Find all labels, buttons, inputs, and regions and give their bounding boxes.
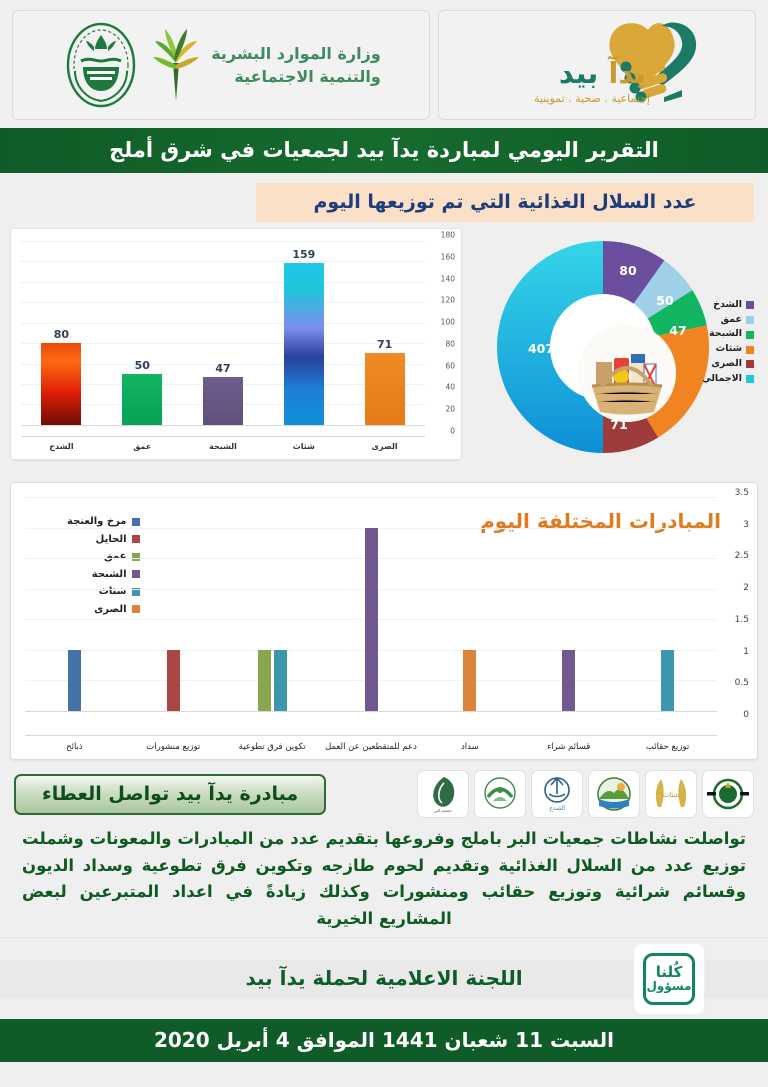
bar-group-tawzee-haqaib: [618, 497, 717, 711]
baskets-section-title: عدد السلال الغذائية التي تم توزيعها اليو…: [256, 183, 754, 222]
food-basket-icon: [578, 324, 676, 422]
bar-rect: [167, 650, 180, 711]
slice-value-shadkh: 80: [619, 263, 637, 278]
y-tick: 1.5: [735, 615, 749, 625]
brand-name-part2: بيد: [559, 56, 598, 90]
charity-logo-1-icon: [702, 770, 754, 818]
y-tick: 2.5: [735, 551, 749, 561]
bar-value: 71: [377, 338, 392, 351]
bar-group-sara: 71: [348, 241, 421, 425]
x-tick-label: ذبائح: [25, 742, 124, 753]
y-tick: 2: [743, 583, 749, 593]
charity-logo-shathath-icon: شثاث: [645, 770, 697, 818]
bar-group-shathath: 159: [267, 241, 340, 425]
legend-label: عمق: [721, 313, 742, 328]
x-tick-label: سداد: [420, 742, 519, 753]
bar-group-takween-firaq: [223, 497, 322, 711]
committee-bar: اللجنة الاعلامية لحملة يدآ بيد كُلنا مسؤ…: [0, 937, 768, 1019]
charity-logo-6-icon: جمعية البر: [417, 770, 469, 818]
report-paragraph: تواصلت نشاطات جمعيات البر باملج وفروعها …: [0, 820, 768, 937]
ministry-name: وزارة الموارد البشرية والتنمية الاجتماعي…: [211, 42, 381, 88]
charity-logo-3-icon: [588, 770, 640, 818]
committee-text: اللجنة الاعلامية لحملة يدآ بيد: [245, 966, 522, 990]
bar-rect: [562, 650, 575, 711]
initiatives-x-axis: توزيع حقائب قسائم شراء سداد دعم للمنقطعي…: [25, 735, 717, 753]
charity-logo-shadkh-icon: الشدخ: [531, 770, 583, 818]
slice-value-omq: 50: [656, 293, 674, 308]
bar-group-shadkh: 80: [25, 241, 98, 425]
brand-tagline: إجتماعية . صحية . تموينية: [534, 92, 650, 105]
ministry-block: وزارة الموارد البشرية والتنمية الاجتماعي…: [47, 21, 395, 109]
y-tick: 3.5: [735, 488, 749, 498]
baskets-section: عدد السلال الغذائية التي تم توزيعها اليو…: [0, 173, 768, 476]
bar-rect: [274, 650, 287, 711]
kullona-masoul-logo: كُلنا مسؤول: [634, 944, 704, 1014]
x-tick-label: شثاث: [267, 442, 340, 451]
legend-swatch: [746, 346, 754, 354]
bar-group-shabha: 47: [187, 241, 260, 425]
bar-rect: [203, 377, 243, 425]
y-tick: 0: [450, 427, 455, 436]
initiatives-section: المبادرات المختلفة اليوم مرخ والعنجة الح…: [0, 476, 768, 764]
x-tick-label: عمق: [106, 442, 179, 451]
bar-rect: [41, 343, 81, 425]
header-logo-strip: يدآ بيد إجتماعية . صحية . تموينية وزارة …: [0, 0, 768, 128]
y-tick: 160: [441, 252, 455, 261]
baskets-bar-chart: 71 159 47 50: [10, 228, 462, 460]
page-title: التقرير اليومي لمباردة يدآ بيد لجمعيات ف…: [0, 128, 768, 173]
slice-value-total: 407: [528, 341, 554, 356]
svg-text:جمعية البر: جمعية البر: [433, 808, 452, 813]
ministry-logo-card: وزارة الموارد البشرية والتنمية الاجتماعي…: [12, 10, 430, 120]
y-tick: 80: [445, 339, 455, 348]
bar-value: 159: [292, 248, 315, 261]
y-tick: 1: [743, 647, 749, 657]
donut-chart: الشدخ عمق الشبحة شثاث الصرى الاجمالي: [466, 228, 758, 468]
association-logos: شثاث الشدخ جمعية البر: [417, 770, 754, 818]
initiative-banner: مبادرة يدآ بيد تواصل العطاء: [14, 774, 326, 815]
bar-group-daam-munqatieen: [322, 497, 421, 711]
kullona-line2: مسؤول: [646, 980, 691, 993]
slice-value-shabha: 47: [669, 323, 686, 338]
x-tick-label: الشدخ: [25, 442, 98, 451]
food-basket-image: [578, 324, 676, 422]
bar-group-thabaih: [25, 497, 124, 711]
bar-chart-bars: 71 159 47 50: [21, 241, 425, 425]
y-tick: 40: [445, 383, 455, 392]
ministry-name-line1: وزارة الموارد البشرية: [211, 42, 381, 65]
initiatives-y-axis: 3.5 3 2.5 2 1.5 1 0.5 0: [721, 493, 753, 715]
bar-value: 80: [54, 328, 69, 341]
x-tick-label: الشبحة: [187, 442, 260, 451]
y-tick: 60: [445, 361, 455, 370]
x-tick-label: دعم للمنقطعين عن العمل: [322, 742, 421, 753]
svg-text:شثاث: شثاث: [663, 791, 680, 799]
brand-name: يدآ بيد: [559, 56, 646, 90]
saudi-emblem-icon: [61, 21, 141, 109]
bar-rect: [68, 650, 81, 711]
legend-label: شثاث: [716, 342, 742, 357]
y-tick: 120: [441, 296, 455, 305]
bar-rect: [365, 353, 405, 425]
y-tick: 180: [441, 231, 455, 240]
charts-row: الشدخ عمق الشبحة شثاث الصرى الاجمالي: [0, 222, 768, 468]
bar-rect: [284, 263, 324, 425]
bar-chart-y-axis: 180 160 140 120 100 80 60 40 20 0: [427, 235, 457, 431]
initiatives-plot: [25, 497, 717, 711]
y-tick: 140: [441, 274, 455, 283]
footer-date: السبت 11 شعبان 1441 الموافق 4 أبريل 2020: [0, 1019, 768, 1062]
charity-logo-shabha-icon: [474, 770, 526, 818]
x-tick-label: تكوين فرق تطوعية: [223, 742, 322, 753]
y-tick: 3: [743, 520, 749, 530]
x-tick-label: قسائم شراء: [519, 742, 618, 753]
associations-section: شثاث الشدخ جمعية البر مبادرة يدآ بيد توا…: [0, 764, 768, 820]
bar-rect: [463, 650, 476, 711]
legend-swatch: [746, 331, 754, 339]
bar-chart-plot: 71 159 47 50: [21, 241, 425, 425]
bar-value: 50: [135, 359, 150, 372]
x-tick-label: توزيع منشورات: [124, 742, 223, 753]
bar-rect: [258, 650, 271, 711]
kullona-line1: كُلنا: [656, 965, 683, 981]
brand-logo-card: يدآ بيد إجتماعية . صحية . تموينية: [438, 10, 756, 120]
yad-be-yad-logo: يدآ بيد إجتماعية . صحية . تموينية: [452, 16, 742, 114]
bar-group-tawzee-manshurat: [124, 497, 223, 711]
y-tick: 20: [445, 405, 455, 414]
bar-rect: [661, 650, 674, 711]
bar-value: 47: [215, 362, 230, 375]
palm-logo-icon: [153, 29, 199, 101]
x-tick-label: توزيع حقائب: [618, 742, 717, 753]
brand-name-part1: يدآ: [608, 56, 646, 90]
bar-group-qasaim-shiraa: [519, 497, 618, 711]
bar-chart-x-axis: الصرى شثاث الشبحة عمق الشدخ: [21, 436, 425, 451]
y-tick: 100: [441, 318, 455, 327]
legend-swatch: [746, 301, 754, 309]
bar-rect: [365, 528, 378, 711]
legend-swatch: [746, 360, 754, 368]
initiatives-bars: [25, 497, 717, 711]
bar-rect: [122, 374, 162, 425]
initiatives-chart-card: المبادرات المختلفة اليوم مرخ والعنجة الح…: [10, 482, 758, 760]
ministry-name-line2: والتنمية الاجتماعية: [211, 65, 381, 88]
bar-group-sadad: [420, 497, 519, 711]
y-tick: 0.5: [735, 678, 749, 688]
y-tick: 0: [743, 710, 749, 720]
bar-group-omq: 50: [106, 241, 179, 425]
kullona-badge: كُلنا مسؤول: [643, 953, 695, 1005]
legend-swatch: [746, 316, 754, 324]
svg-text:الشدخ: الشدخ: [549, 805, 565, 812]
legend-swatch: [746, 375, 754, 383]
x-tick-label: الصرى: [348, 442, 421, 451]
